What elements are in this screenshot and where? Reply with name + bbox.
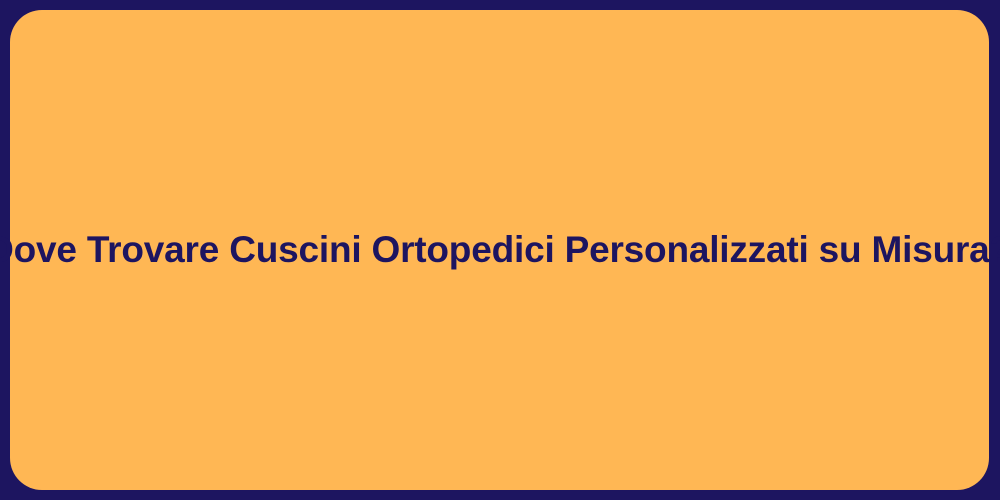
- page-title: Dove Trovare Cuscini Ortopedici Personal…: [0, 227, 1000, 273]
- banner-panel: Dove Trovare Cuscini Ortopedici Personal…: [10, 10, 989, 490]
- banner-frame: Dove Trovare Cuscini Ortopedici Personal…: [0, 0, 1000, 500]
